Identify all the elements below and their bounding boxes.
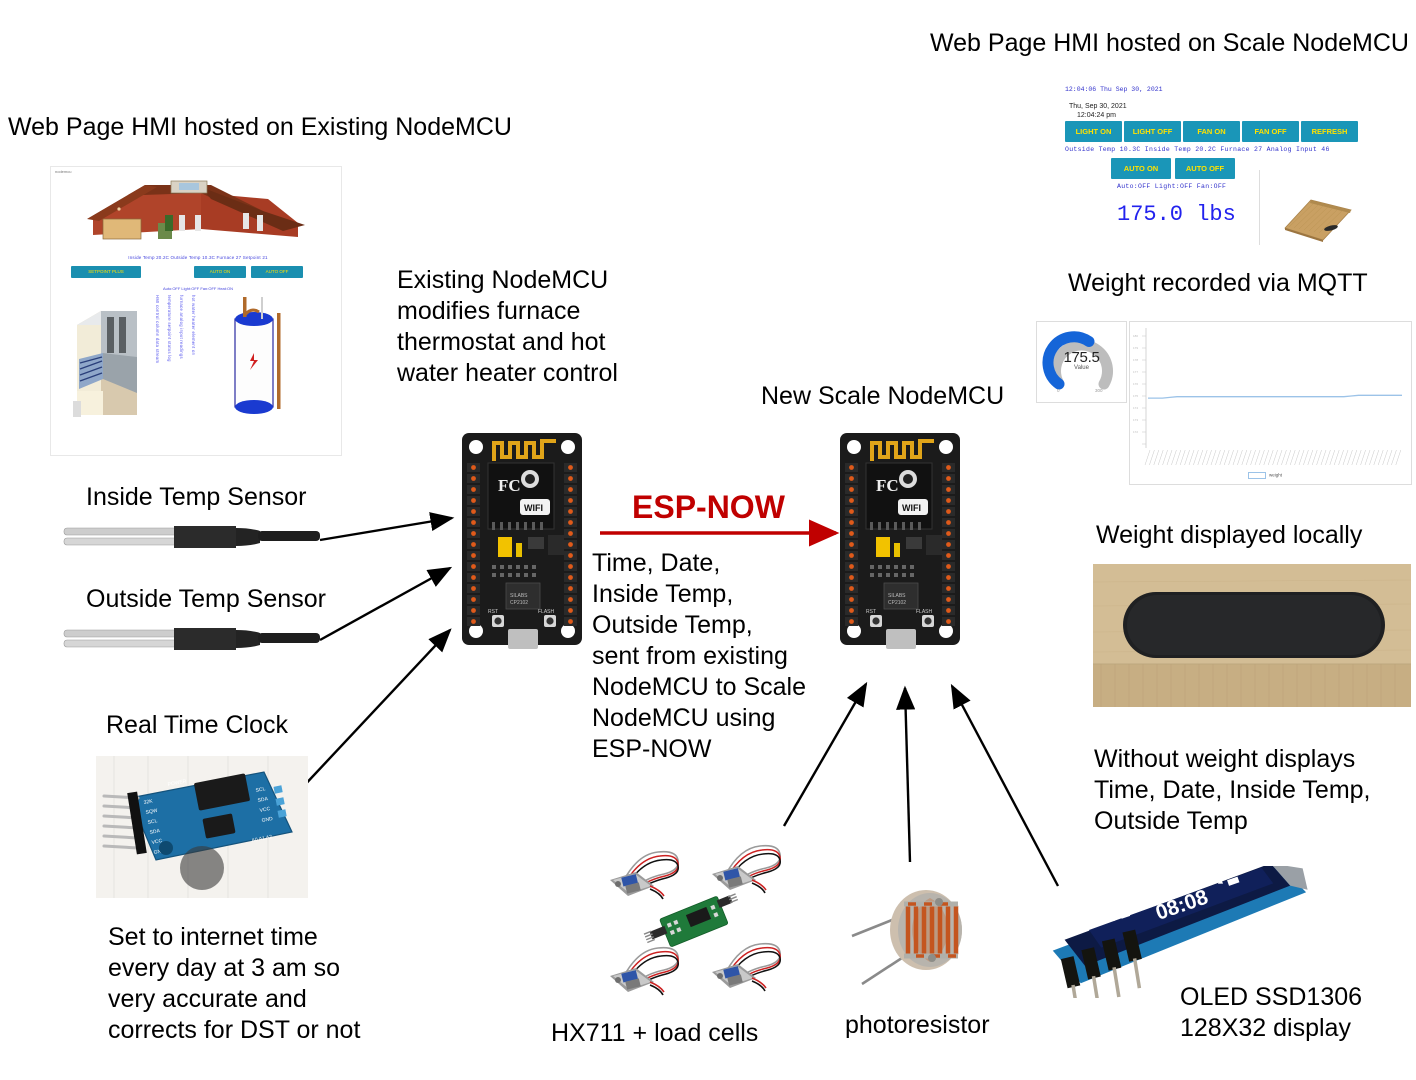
hmi-left-button-setpoint-plus[interactable]: SETPOINT PLUS [71, 266, 141, 278]
button-light-off[interactable]: LIGHT OFF [1124, 121, 1181, 142]
gauge-value: 175.5 [1037, 349, 1126, 366]
legend-label: weight [1269, 473, 1282, 478]
label-hx711: HX711 + load cells [551, 1018, 758, 1049]
hmi-left-blue-text-column-1: HMI control column data stream [155, 295, 160, 423]
rtc-ds3231-module: 32K SQW SCL SDA VCC GND SCL SDA VCC GND … [96, 756, 308, 898]
chart-legend: weight [1248, 472, 1282, 479]
gauge-label: Value [1037, 365, 1126, 371]
mqtt-dashboard: 175.5 Value 0 300 180179178 177176175 17… [1036, 313, 1412, 491]
hmi-left-temp-line: Inside Temp 20.2C Outside Temp 10.3C Fur… [73, 255, 323, 260]
label-photoresistor: photoresistor [845, 1010, 990, 1041]
svg-text:179: 179 [1133, 346, 1138, 350]
furnace-illustration [73, 297, 141, 425]
weight-line-chart: 180179178 177176175 174173172 [1130, 322, 1411, 484]
button-fan-on[interactable]: FAN ON [1183, 121, 1240, 142]
hmi-left-button-auto-off[interactable]: AUTO OFF [251, 266, 303, 278]
svg-text:FC: FC [498, 476, 521, 495]
note-without-weight: Without weight displays Time, Date, Insi… [1094, 744, 1371, 837]
bamboo-surface [1093, 564, 1411, 707]
svg-text:177: 177 [1133, 370, 1138, 374]
svg-text:SILABS: SILABS [510, 593, 528, 599]
gauge-max: 300 [1095, 388, 1103, 393]
svg-text:FLASH: FLASH [916, 609, 933, 615]
hmi-left-blue-text-column-2: temperature setpoint status log [167, 295, 172, 423]
caption-hmi-right: Web Page HMI hosted on Scale NodeMCU [930, 28, 1409, 59]
hmi-right-auto-status: Auto:OFF Light:OFF Fan:OFF [1117, 183, 1226, 190]
scale-nodemcu-board[interactable]: FC WIFI SILABS CP2102 RST FLASH [836, 427, 964, 651]
note-rtc: Set to internet time every day at 3 am s… [108, 922, 360, 1046]
hmi-right-date: Thu, Sep 30, 2021 12:04:24 pm [1069, 102, 1127, 120]
note-existing-nodemcu: Existing NodeMCU modifies furnace thermo… [397, 265, 618, 389]
hmi-right-date-line2: 12:04:24 pm [1069, 111, 1127, 120]
label-weight-mqtt: Weight recorded via MQTT [1068, 268, 1368, 299]
hmi-left-blue-text-column-4: hot water heater element on [191, 295, 196, 423]
svg-text:CP2102: CP2102 [888, 600, 906, 606]
svg-text:WIFI: WIFI [902, 503, 921, 513]
label-real-time-clock: Real Time Clock [106, 710, 288, 741]
label-inside-temp-sensor: Inside Temp Sensor [86, 482, 307, 513]
mqtt-gauge-card: 175.5 Value 0 300 [1036, 321, 1127, 403]
bamboo-scale-photo [1281, 196, 1353, 244]
hmi-left-webpage[interactable]: nodemcu Inside Temp 20.2C Outside Temp 1… [50, 166, 342, 456]
caption-hmi-left: Web Page HMI hosted on Existing NodeMCU [8, 112, 512, 143]
hmi-right-timestamp: 12:04:06 Thu Sep 30, 2021 [1065, 86, 1163, 93]
gauge-min: 0 [1057, 388, 1060, 393]
svg-text:173: 173 [1133, 418, 1138, 422]
svg-text:SILABS: SILABS [888, 593, 906, 599]
bamboo-scale-with-oled-photo: 175.0LB [1093, 564, 1411, 707]
svg-text:180: 180 [1133, 334, 1138, 338]
existing-nodemcu-board[interactable]: FC WIFI SILABS CP2102 RST FLASH [458, 427, 586, 651]
button-light-on[interactable]: LIGHT ON [1065, 121, 1122, 142]
svg-text:WIFI: WIFI [524, 503, 543, 513]
note-espnow-payload: Time, Date, Inside Temp, Outside Temp, s… [592, 548, 806, 765]
hmi-right-status-line: Outside Temp 10.3C Inside Temp 20.2C Fur… [1065, 146, 1330, 153]
button-fan-off[interactable]: FAN OFF [1242, 121, 1299, 142]
espnow-label: ESP-NOW [632, 489, 785, 526]
button-refresh[interactable]: REFRESH [1301, 121, 1358, 142]
legend-swatch [1248, 472, 1266, 479]
hmi-left-blue-text-column-3: furnace analog input readings [179, 295, 184, 423]
svg-text:175: 175 [1133, 394, 1138, 398]
button-auto-off[interactable]: AUTO OFF [1175, 158, 1235, 179]
svg-text:FC: FC [876, 476, 899, 495]
label-weight-local: Weight displayed locally [1096, 520, 1362, 551]
svg-text:FLASH: FLASH [538, 609, 555, 615]
svg-text:176: 176 [1133, 382, 1138, 386]
water-heater-illustration [223, 295, 285, 425]
house-illustration [83, 177, 309, 252]
photoresistor-ldr [846, 858, 996, 1010]
hmi-right-date-line1: Thu, Sep 30, 2021 [1069, 102, 1127, 111]
button-auto-on[interactable]: AUTO ON [1111, 158, 1171, 179]
inside-temp-probe [62, 516, 322, 560]
oled-ssd1306-module: 08:08 [1022, 866, 1352, 998]
svg-text:CP2102: CP2102 [510, 600, 528, 606]
hmi-right-divider [1259, 170, 1260, 245]
outside-temp-probe [62, 618, 322, 662]
hx711-load-cells [592, 822, 808, 1008]
label-new-scale-nodemcu: New Scale NodeMCU [761, 381, 1004, 412]
hmi-right-button-row[interactable]: LIGHT ONLIGHT OFFFAN ONFAN OFFREFRESH [1065, 121, 1391, 142]
hmi-right-webpage[interactable]: 12:04:06 Thu Sep 30, 2021 Thu, Sep 30, 2… [1063, 84, 1393, 249]
svg-text:172: 172 [1133, 430, 1138, 434]
hmi-left-info-line: Auto:OFF Light:OFF Fan:OFF Heat:ON [73, 286, 323, 291]
svg-text:174: 174 [1133, 406, 1138, 410]
svg-text:RST: RST [866, 609, 876, 615]
hmi-right-auto-button-row[interactable]: AUTO ONAUTO OFF [1111, 158, 1239, 179]
hmi-right-weight-readout: 175.0 lbs [1117, 202, 1236, 227]
mqtt-weight-chart: 180179178 177176175 174173172 weight [1129, 321, 1412, 485]
svg-text:RST: RST [488, 609, 498, 615]
svg-text:178: 178 [1133, 358, 1138, 362]
hmi-left-corner-text: nodemcu [55, 169, 341, 174]
hmi-left-button-auto-on[interactable]: AUTO ON [194, 266, 246, 278]
label-outside-temp-sensor: Outside Temp Sensor [86, 584, 326, 615]
